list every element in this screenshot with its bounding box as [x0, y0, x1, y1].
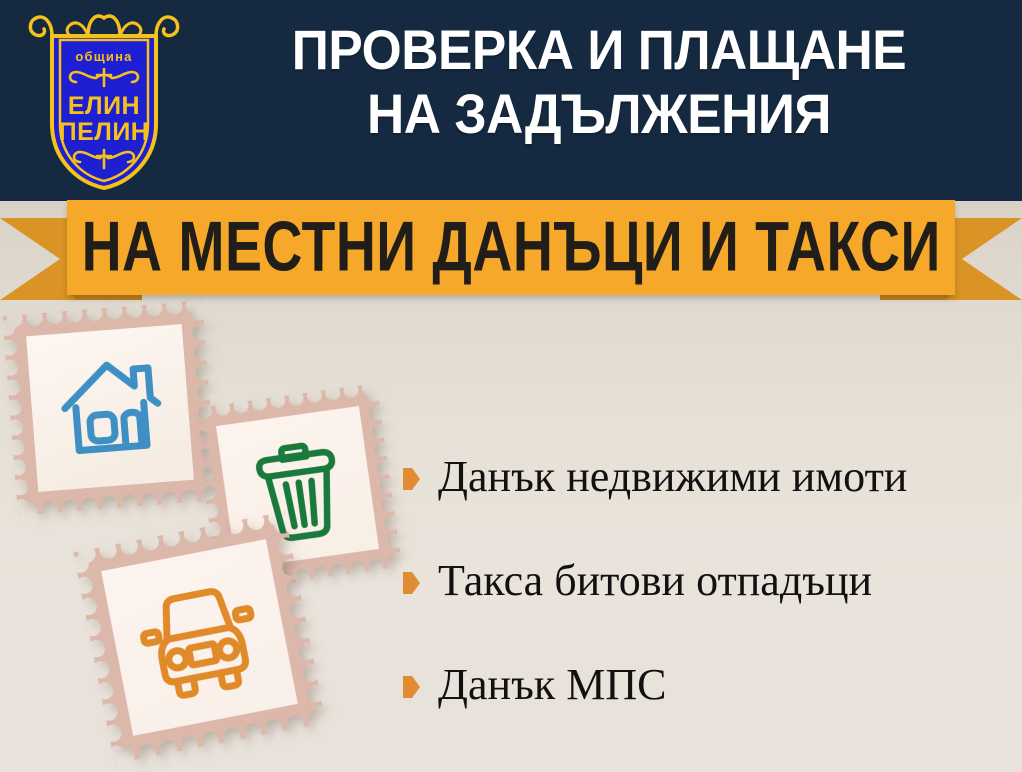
list-item[interactable]: Данък МПС [403, 633, 1013, 737]
stamp-property [2, 300, 217, 515]
municipality-logo: община ЕЛИН ПЕЛИН [24, 6, 184, 194]
subtitle-ribbon: НА МЕСТНИ ДАНЪЦИ И ТАКСИ [0, 200, 1022, 310]
title-line-1: ПРОВЕРКА И ПЛАЩАНЕ [223, 18, 976, 82]
svg-text:ПЕЛИН: ПЕЛИН [59, 118, 150, 146]
header-bar: община ЕЛИН ПЕЛИН [0, 0, 1022, 201]
list-item[interactable]: Такса битови отпадъци [403, 529, 1013, 633]
list-item-label: Такса битови отпадъци [438, 556, 872, 606]
ribbon-band: НА МЕСТНИ ДАНЪЦИ И ТАКСИ [67, 200, 955, 295]
list-item-label: Данък недвижими имоти [438, 452, 907, 502]
arrow-bullet-icon [403, 572, 420, 594]
title-line-2: НА ЗАДЪЛЖЕНИЯ [223, 82, 976, 146]
stamp-group [0, 300, 400, 770]
svg-text:община: община [75, 49, 132, 64]
poster-title: ПРОВЕРКА И ПЛАЩАНЕ НА ЗАДЪЛЖЕНИЯ [223, 18, 976, 146]
svg-text:ЕЛИН: ЕЛИН [68, 92, 140, 120]
arrow-bullet-icon [403, 676, 420, 698]
arrow-bullet-icon [403, 468, 420, 490]
list-item[interactable]: Данък недвижими имоти [403, 425, 1013, 529]
stamp-vehicle [73, 511, 325, 763]
ribbon-label: НА МЕСТНИ ДАНЪЦИ И ТАКСИ [81, 212, 940, 283]
list-item-label: Данък МПС [438, 660, 666, 710]
poster-root: община ЕЛИН ПЕЛИН [0, 0, 1022, 772]
obligations-list: Данък недвижими имоти Такса битови отпад… [403, 425, 1013, 737]
